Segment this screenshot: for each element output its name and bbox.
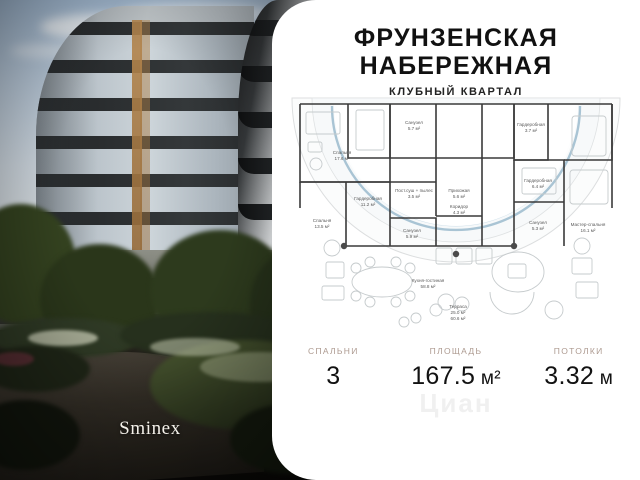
stat-label: ПОТОЛКИ — [517, 346, 640, 356]
title-line-1: ФРУНЗЕНСКАЯ — [272, 24, 640, 52]
svg-text:3.7 м²: 3.7 м² — [525, 128, 538, 133]
stat-value: 3.32 м — [517, 362, 640, 391]
stat-value: 167.5 м² — [395, 362, 518, 391]
developer-watermark: Sminex — [0, 418, 300, 440]
stat-ceilings: ПОТОЛКИ 3.32 м — [517, 346, 640, 391]
svg-text:13.5 м²: 13.5 м² — [315, 224, 330, 229]
stat-area: ПЛОЩАДЬ 167.5 м² — [395, 346, 518, 391]
stat-bedrooms: СПАЛЬНИ 3 — [272, 346, 395, 391]
svg-text:5.9 м²: 5.9 м² — [406, 234, 419, 239]
info-card: ФРУНЗЕНСКАЯ НАБЕРЕЖНАЯ КЛУБНЫЙ КВАРТАЛ — [272, 0, 640, 480]
svg-text:Мастер-спальня: Мастер-спальня — [571, 222, 606, 227]
svg-text:Гардеробная: Гардеробная — [524, 178, 552, 183]
svg-text:16.1 м²: 16.1 м² — [581, 228, 596, 233]
stat-label: СПАЛЬНИ — [272, 346, 395, 356]
svg-text:Пост.суш + пылес: Пост.суш + пылес — [395, 188, 434, 193]
svg-text:Прихожая: Прихожая — [448, 188, 470, 193]
stats-row: СПАЛЬНИ 3 ПЛОЩАДЬ 167.5 м² ПОТОЛКИ 3.32 … — [272, 346, 640, 391]
svg-text:Спальня: Спальня — [333, 150, 352, 155]
svg-text:11.2 м²: 11.2 м² — [361, 202, 376, 207]
svg-text:Кухня-гостиная: Кухня-гостиная — [412, 278, 445, 283]
site-watermark: Циан — [272, 388, 640, 419]
svg-text:17.6 м²: 17.6 м² — [335, 156, 350, 161]
svg-text:Спальня: Спальня — [313, 218, 332, 223]
listing-card-screen: Sminex ФРУНЗЕНСКАЯ НАБЕРЕЖНАЯ КЛУБНЫЙ КВ… — [0, 0, 640, 480]
svg-text:Гардеробная: Гардеробная — [517, 122, 545, 127]
svg-text:Санузел: Санузел — [529, 220, 547, 225]
stat-label: ПЛОЩАДЬ — [395, 346, 518, 356]
svg-text:5.6 м²: 5.6 м² — [453, 194, 466, 199]
svg-text:Терраса: Терраса — [449, 304, 467, 309]
stat-value: 3 — [272, 362, 395, 391]
svg-text:3.5 м²: 3.5 м² — [408, 194, 421, 199]
floor-plan-svg: Спальня 17.6 м² Санузел 5.7 м² Прихожая … — [286, 96, 626, 336]
svg-text:Санузел: Санузел — [405, 120, 423, 125]
title-line-2: НАБЕРЕЖНАЯ — [272, 52, 640, 80]
svg-text:Коридор: Коридор — [450, 204, 469, 209]
svg-text:5.7 м²: 5.7 м² — [408, 126, 421, 131]
svg-text:60.6 м²: 60.6 м² — [451, 316, 466, 321]
svg-text:58.8 м²: 58.8 м² — [421, 284, 436, 289]
svg-text:6.4 м²: 6.4 м² — [532, 184, 545, 189]
svg-text:Гардеробная: Гардеробная — [354, 196, 382, 201]
svg-text:5.3 м²: 5.3 м² — [532, 226, 545, 231]
svg-text:4.3 м²: 4.3 м² — [453, 210, 466, 215]
floor-plan: Спальня 17.6 м² Санузел 5.7 м² Прихожая … — [286, 96, 626, 336]
svg-text:25.0 м²: 25.0 м² — [451, 310, 466, 315]
svg-text:Санузел: Санузел — [403, 228, 421, 233]
page-title: ФРУНЗЕНСКАЯ НАБЕРЕЖНАЯ КЛУБНЫЙ КВАРТАЛ — [272, 24, 640, 98]
